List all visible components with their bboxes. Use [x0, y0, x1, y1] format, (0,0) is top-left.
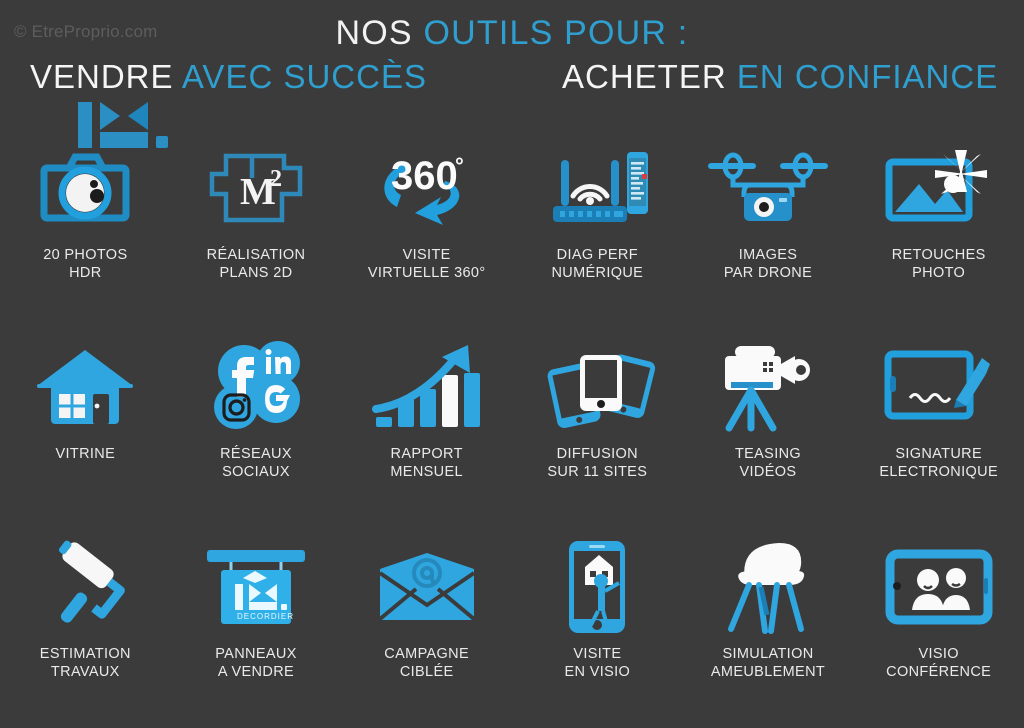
- tool-item-panneaux-a-vendre: DECORDIER PANNEAUX A VENDRE: [171, 529, 342, 728]
- subtitle-buy-blue: EN CONFIANCE: [737, 58, 998, 95]
- subtitle-sell-blue: AVEC SUCCÈS: [182, 58, 427, 95]
- subtitle-sell: VENDRE AVEC SUCCÈS: [30, 58, 427, 96]
- tool-label: RÉALISATION PLANS 2D: [207, 246, 306, 282]
- title-part-1: NOS: [336, 14, 424, 52]
- subtitle-buy-white: ACHETER: [562, 58, 737, 95]
- tool-label: RETOUCHES PHOTO: [892, 246, 986, 282]
- tool-label: DIFFUSION SUR 11 SITES: [547, 445, 647, 481]
- subtitle-sell-white: VENDRE: [30, 58, 182, 95]
- tools-grid: 20 PHOTOS HDR M 2 RÉALISATION PLANS 2D: [0, 130, 1024, 728]
- tool-label: IMAGES PAR DRONE: [724, 246, 812, 282]
- tool-label: DIAG PERF NUMÉRIQUE: [551, 246, 643, 282]
- tool-item-diffusion: DIFFUSION SUR 11 SITES: [512, 329, 683, 528]
- tool-item-teasing-videos: TEASING VIDÉOS: [683, 329, 854, 528]
- drone-camera-icon: [709, 136, 827, 240]
- tool-label: SIMULATION AMEUBLEMENT: [711, 645, 825, 681]
- tool-item-vitrine: VITRINE: [0, 329, 171, 528]
- tool-label: RÉSEAUX SOCIAUX: [220, 445, 292, 481]
- tool-label: RAPPORT MENSUEL: [390, 445, 463, 481]
- tool-item-20-photos-hdr: 20 PHOTOS HDR: [0, 130, 171, 329]
- social-networks-icon: [197, 335, 315, 439]
- tool-label: ESTIMATION TRAVAUX: [40, 645, 131, 681]
- infographic-poster: © EtreProprio.com NOS OUTILS POUR : VEND…: [0, 0, 1024, 728]
- tool-label: VISITE VIRTUELLE 360°: [368, 246, 486, 282]
- tool-item-diag-perf: DIAG PERF NUMÉRIQUE: [512, 130, 683, 329]
- video-camera-tripod-icon: [709, 335, 827, 439]
- chair-icon: [709, 535, 827, 639]
- tool-item-signature-electronique: SIGNATURE ELECTRONIQUE: [853, 329, 1024, 528]
- subtitle-buy: ACHETER EN CONFIANCE: [562, 58, 998, 96]
- tool-label: CAMPAGNE CIBLÉE: [384, 645, 469, 681]
- tool-label: SIGNATURE ELECTRONIQUE: [879, 445, 998, 481]
- tool-label: 20 PHOTOS HDR: [43, 246, 127, 282]
- growth-chart-icon: [368, 335, 486, 439]
- panorama-360-icon: 360 °: [368, 136, 486, 240]
- svg-text:2: 2: [270, 166, 282, 192]
- multi-devices-icon: [538, 335, 656, 439]
- svg-text:°: °: [455, 153, 464, 178]
- tool-label: VISIO CONFÉRENCE: [886, 645, 991, 681]
- tool-item-simulation-ameublement: SIMULATION AMEUBLEMENT: [683, 529, 854, 728]
- for-sale-sign-icon: DECORDIER: [197, 535, 315, 639]
- title-part-3: POUR :: [564, 14, 688, 52]
- tool-item-reseaux-sociaux: RÉSEAUX SOCIAUX: [171, 329, 342, 528]
- tool-item-campagne-ciblee: CAMPAGNE CIBLÉE: [341, 529, 512, 728]
- tool-item-visite-360: 360 ° VISITE VIRTUELLE 360°: [341, 130, 512, 329]
- tool-label: TEASING VIDÉOS: [735, 445, 801, 481]
- subtitle-row: VENDRE AVEC SUCCÈS ACHETER EN CONFIANCE: [0, 58, 1024, 100]
- camera-icon: [26, 136, 144, 240]
- photo-retouch-icon: [880, 136, 998, 240]
- tool-item-rapport-mensuel: RAPPORT MENSUEL: [341, 329, 512, 528]
- tool-item-retouches-photo: RETOUCHES PHOTO: [853, 130, 1024, 329]
- tool-item-visite-en-visio: VISITE EN VISIO: [512, 529, 683, 728]
- email-at-icon: [368, 535, 486, 639]
- house-icon: [26, 335, 144, 439]
- signature-tablet-icon: [880, 335, 998, 439]
- paint-roller-icon: [26, 535, 144, 639]
- sign-brand-text: DECORDIER: [237, 612, 294, 621]
- tool-label: PANNEAUX A VENDRE: [215, 645, 297, 681]
- title-part-2: OUTILS: [423, 14, 564, 52]
- tool-label: VITRINE: [56, 445, 116, 463]
- floorplan-m2-icon: M 2: [197, 136, 315, 240]
- svg-text:360: 360: [391, 154, 458, 198]
- tool-item-images-drone: IMAGES PAR DRONE: [683, 130, 854, 329]
- phone-virtual-visit-icon: [538, 535, 656, 639]
- tool-label: VISITE EN VISIO: [565, 645, 631, 681]
- tool-item-plans-2d: M 2 RÉALISATION PLANS 2D: [171, 130, 342, 329]
- page-title: NOS OUTILS POUR :: [0, 14, 1024, 53]
- tool-item-estimation-travaux: ESTIMATION TRAVAUX: [0, 529, 171, 728]
- router-wifi-phone-icon: [538, 136, 656, 240]
- tool-item-visio-conference: VISIO CONFÉRENCE: [853, 529, 1024, 728]
- video-conference-icon: [880, 535, 998, 639]
